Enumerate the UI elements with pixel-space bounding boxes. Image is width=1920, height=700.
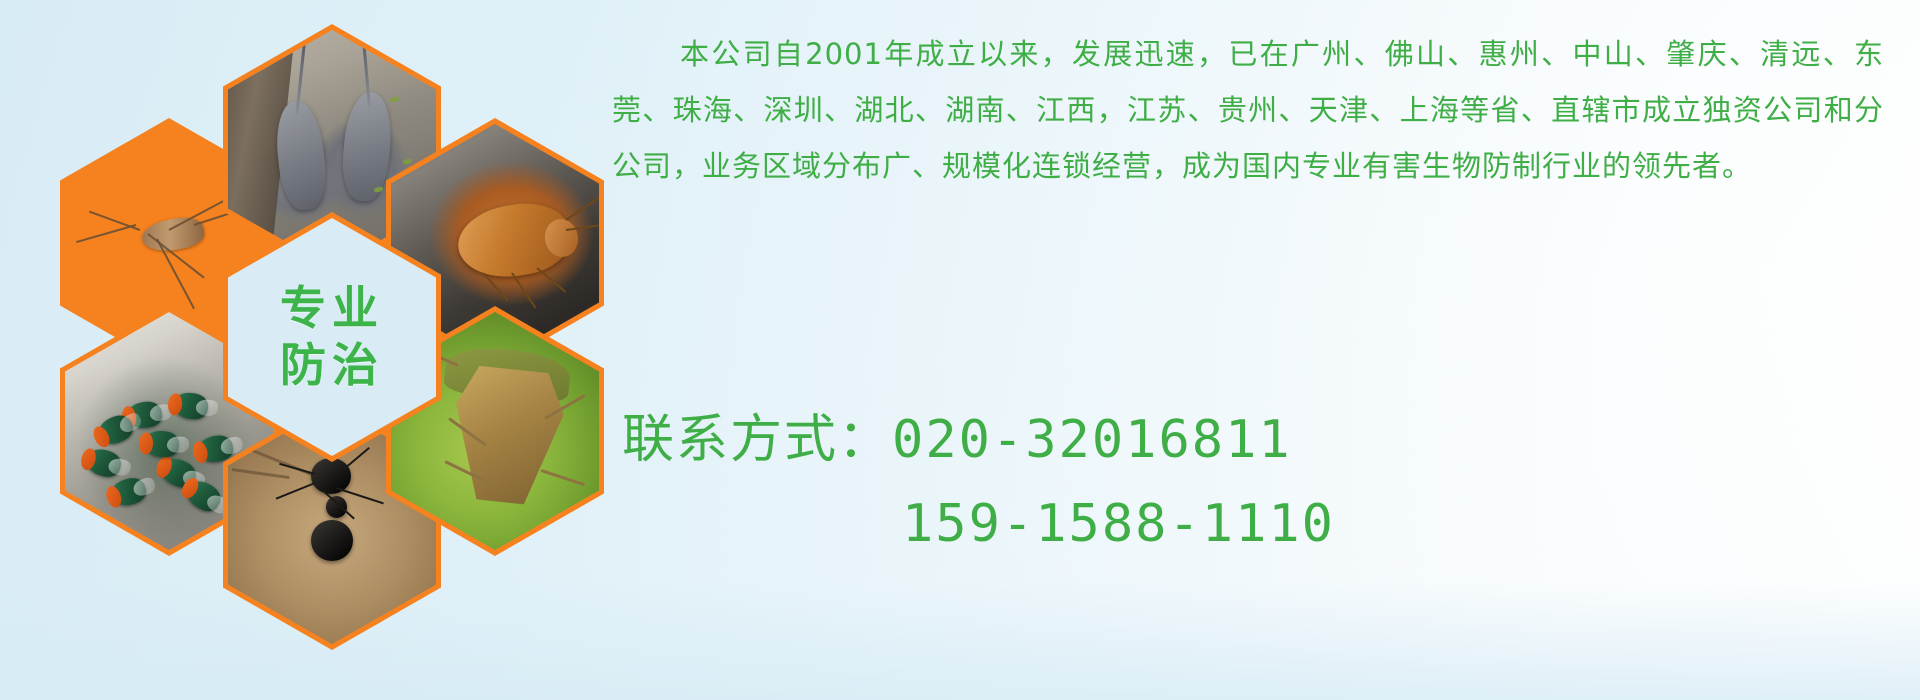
contact-primary-line: 联系方式：020-32016811 xyxy=(612,398,1884,482)
promo-banner: 专业 防治 本公司自2001年成立以来，发展迅速，已在广州、佛山、惠州、中山、肇… xyxy=(0,0,1920,700)
intro-paragraph: 本公司自2001年成立以来，发展迅速，已在广州、佛山、惠州、中山、肇庆、清远、东… xyxy=(612,26,1884,194)
phone-secondary[interactable]: 159-1588-1110 xyxy=(902,494,1335,554)
honeycomb-graphic: 专业 防治 xyxy=(60,6,580,566)
phone-primary[interactable]: 020-32016811 xyxy=(892,410,1292,470)
slogan-line-1: 专业 xyxy=(280,280,384,338)
slogan-text: 专业 防治 xyxy=(280,280,384,395)
slogan-line-2: 防治 xyxy=(280,337,384,395)
contact-block: 联系方式：020-32016811 159-1588-1110 xyxy=(612,398,1884,566)
contact-label: 联系方式： xyxy=(622,410,892,470)
intro-copy-block: 本公司自2001年成立以来，发展迅速，已在广州、佛山、惠州、中山、肇庆、清远、东… xyxy=(612,26,1884,194)
contact-secondary-line: 159-1588-1110 xyxy=(612,482,1884,566)
